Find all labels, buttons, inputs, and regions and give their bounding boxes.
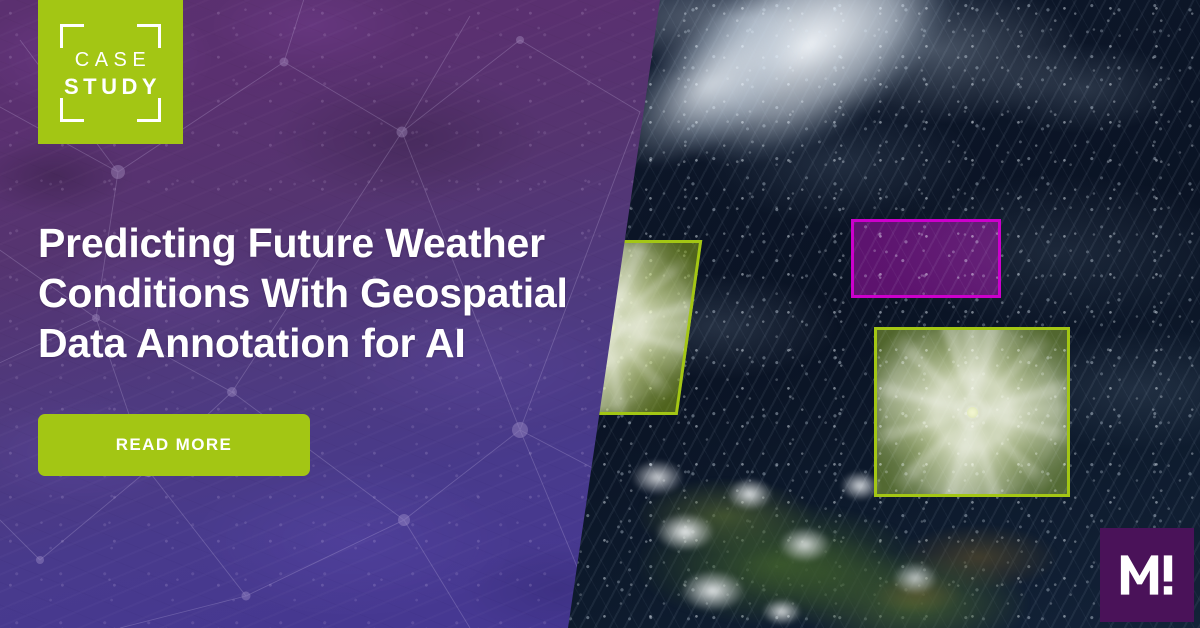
annotation-box-storm-magenta[interactable] (851, 219, 1001, 298)
badge-label-case: CASE (70, 48, 151, 73)
badge-label-study: STUDY (60, 73, 161, 101)
corner-bracket-bottom-left-icon (60, 98, 84, 122)
annotation-box-hurricane-main[interactable] (874, 327, 1070, 497)
corner-bracket-top-right-icon (137, 24, 161, 48)
case-study-banner: CASE STUDY Predicting Future Weather Con… (0, 0, 1200, 628)
annotation-border (851, 219, 1001, 298)
corner-bracket-bottom-right-icon (137, 98, 161, 122)
page-title: Predicting Future Weather Conditions Wit… (38, 218, 598, 368)
read-more-button[interactable]: READ MORE (38, 414, 310, 476)
corner-bracket-top-left-icon (60, 24, 84, 48)
annotation-border (874, 327, 1070, 497)
brand-logo[interactable] (1100, 528, 1194, 622)
case-study-badge: CASE STUDY (38, 0, 183, 144)
m-exclamation-logo-icon (1119, 553, 1175, 597)
